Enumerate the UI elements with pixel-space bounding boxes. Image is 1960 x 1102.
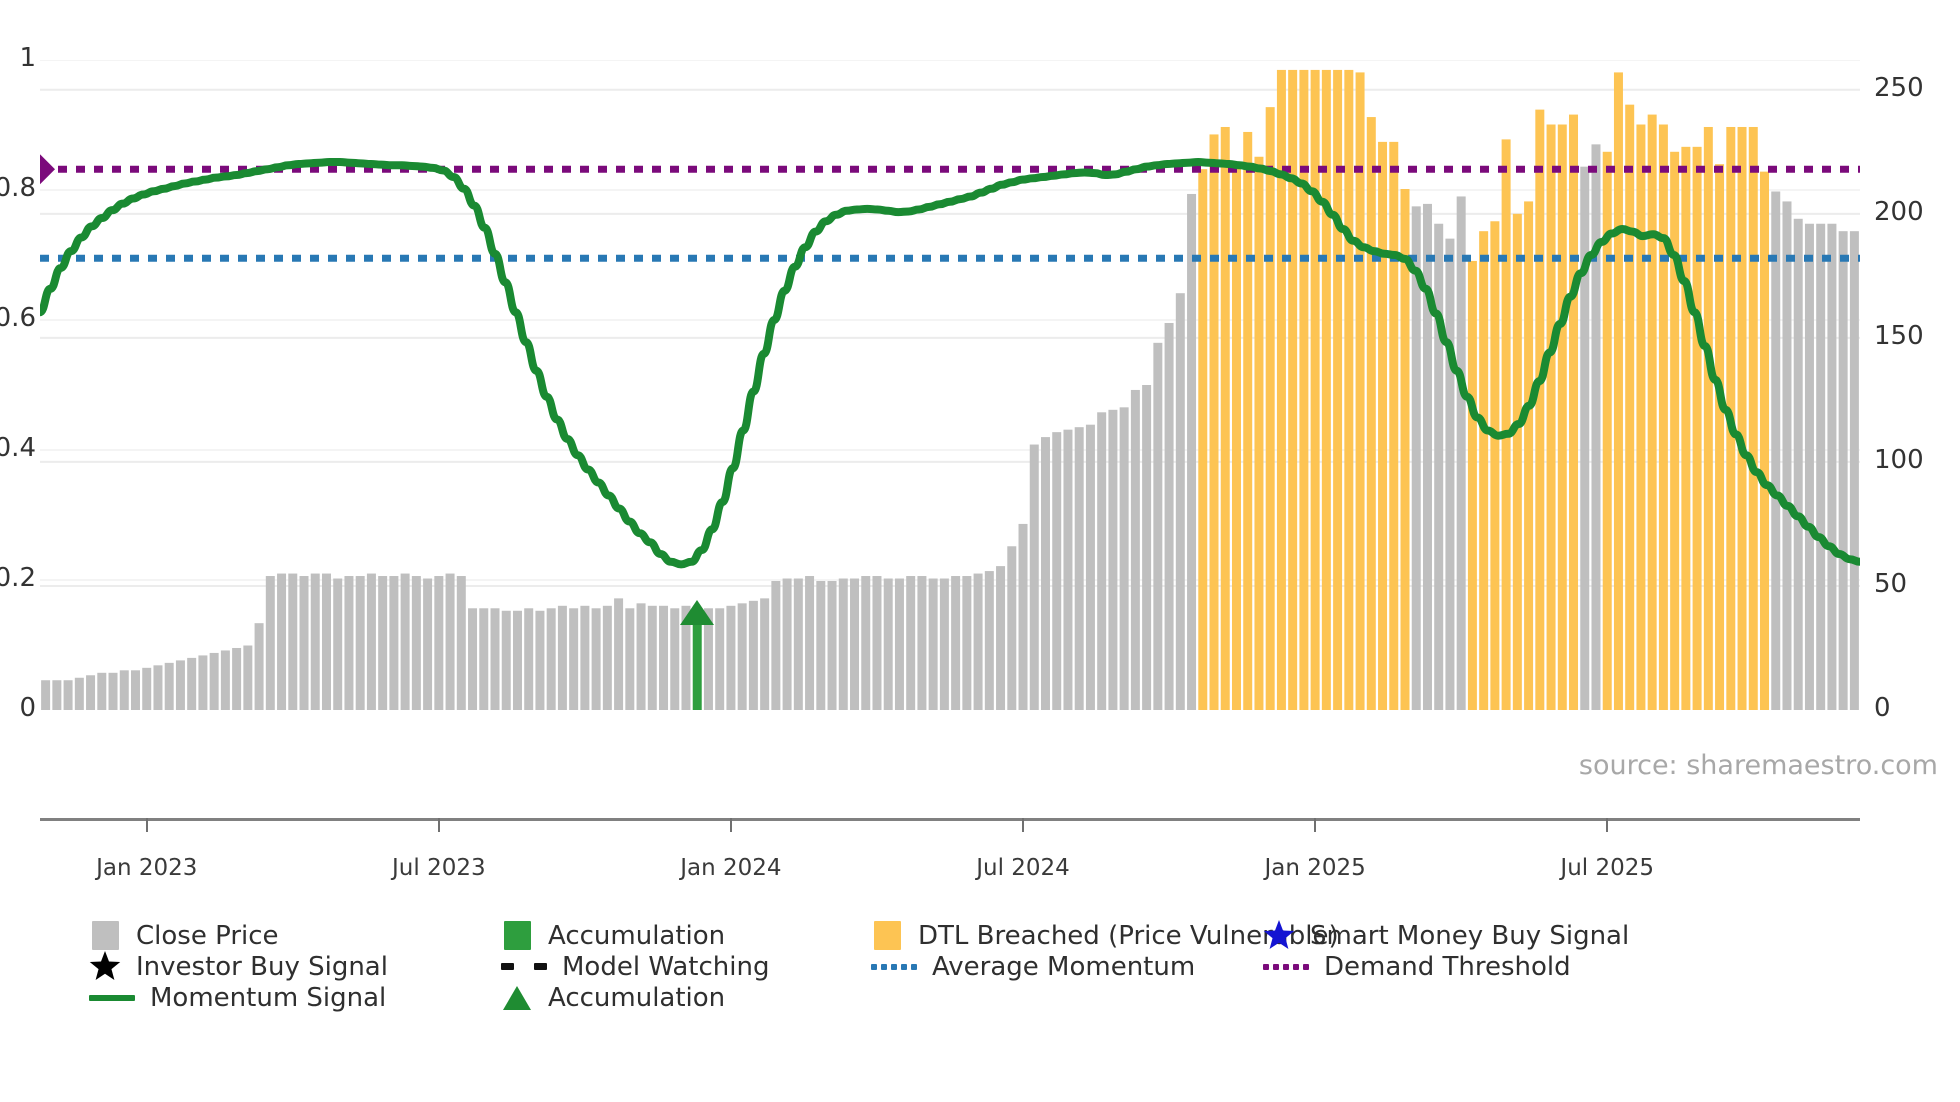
y-axis-left-tick-label: 0 [19, 695, 36, 721]
price-bar [861, 576, 870, 710]
legend-demand-threshold[interactable]: Demand Threshold [1262, 951, 1682, 982]
price-bar [1693, 147, 1702, 710]
dashed-line-swatch-icon [500, 951, 548, 982]
price-bar [1165, 323, 1174, 710]
price-bar [985, 571, 994, 710]
price-bar [884, 579, 893, 710]
price-bar [1378, 142, 1387, 710]
x-axis-tick-label: Jan 2023 [96, 855, 197, 881]
price-bar [86, 675, 95, 710]
price-bar [592, 608, 601, 710]
legend-investor-buy[interactable]: Investor Buy Signal [88, 951, 500, 982]
legend-label: Demand Threshold [1324, 954, 1571, 980]
price-bar [288, 574, 297, 710]
price-bar [524, 608, 533, 710]
dotted-line-icon [1263, 964, 1309, 970]
price-bar [1704, 127, 1713, 710]
price-bar [1176, 293, 1185, 710]
price-bar [1760, 172, 1769, 710]
price-bar [1591, 144, 1600, 710]
price-bar [1007, 546, 1016, 710]
x-axis-tick-mark [1606, 818, 1608, 832]
price-bar [221, 650, 230, 710]
price-bar [1805, 224, 1814, 710]
price-bar [771, 581, 780, 710]
price-bar [187, 658, 196, 710]
price-bar [872, 576, 881, 710]
price-bar [468, 608, 477, 710]
square-swatch-icon [88, 920, 122, 951]
price-bar [760, 598, 769, 710]
price-bar [243, 646, 252, 711]
price-bar [1513, 214, 1522, 710]
line-icon [89, 995, 135, 1001]
legend-label: Accumulation [548, 923, 725, 949]
price-bar [356, 576, 365, 710]
y-axis-right-tick-label: 0 [1874, 695, 1891, 721]
price-bar [300, 576, 309, 710]
price-bar [1210, 134, 1219, 710]
price-bar [434, 576, 443, 710]
y-axis-right-tick-label: 250 [1874, 75, 1924, 101]
price-bar [850, 579, 859, 710]
star-icon [88, 951, 122, 983]
price-bar [996, 566, 1005, 710]
price-bar [1063, 430, 1072, 710]
x-axis-tick-label: Jul 2023 [392, 855, 486, 881]
price-bar [1614, 72, 1623, 710]
price-bar [513, 611, 522, 710]
price-bar [625, 608, 634, 710]
price-bar [1547, 125, 1556, 711]
price-bar [569, 608, 578, 710]
legend-close-price[interactable]: Close Price [88, 920, 500, 951]
price-bar [1041, 437, 1050, 710]
square-icon [92, 921, 119, 950]
dashed-line-icon [501, 963, 547, 970]
price-bar [1120, 407, 1129, 710]
legend-label: Investor Buy Signal [136, 954, 388, 980]
price-bar [97, 673, 106, 710]
price-bar [491, 608, 500, 710]
price-bar [1108, 410, 1117, 710]
price-bar [1839, 231, 1848, 710]
price-bar [255, 623, 264, 710]
square-swatch-icon [500, 920, 534, 951]
price-bar [1131, 390, 1140, 710]
square-icon [874, 921, 901, 950]
price-bar [1479, 231, 1488, 710]
y-axis-right-tick-label: 50 [1874, 571, 1907, 597]
price-bar [1715, 164, 1724, 710]
price-bar [1344, 70, 1353, 710]
price-bar [52, 680, 61, 710]
y-axis-left-tick-label: 0.8 [0, 175, 36, 201]
price-bar [1535, 110, 1544, 710]
square-icon [504, 921, 531, 950]
price-bar [389, 576, 398, 710]
chart-root: 00.20.40.60.81 050100150200250 Jan 2023J… [0, 0, 1960, 1102]
x-axis-tick-mark [730, 818, 732, 832]
legend-accumulation-bar[interactable]: Accumulation [500, 920, 870, 951]
price-bar [962, 576, 971, 710]
price-bar [1738, 127, 1747, 710]
plot-area [40, 60, 1860, 710]
demand-threshold-diamond [40, 152, 55, 186]
price-bar [457, 576, 466, 710]
price-bar [41, 680, 50, 710]
price-bar [659, 606, 668, 710]
price-bar [648, 606, 657, 710]
price-bar [322, 574, 331, 710]
price-bar [109, 673, 118, 710]
price-bar [1625, 105, 1634, 710]
price-bar [210, 653, 219, 710]
price-bar [1266, 107, 1275, 710]
price-bar [446, 574, 455, 710]
x-axis-tick-label: Jan 2025 [1264, 855, 1365, 881]
price-bar [547, 608, 556, 710]
legend-label: Momentum Signal [150, 985, 386, 1011]
price-bar [670, 608, 679, 710]
price-bar [1827, 224, 1836, 710]
price-bar [378, 576, 387, 710]
price-bar [1187, 194, 1196, 710]
price-bar [311, 574, 320, 710]
square-swatch-icon [870, 920, 904, 951]
price-bar [1771, 191, 1780, 710]
price-bar [1580, 167, 1589, 710]
x-axis-tick-label: Jul 2024 [976, 855, 1070, 881]
y-axis-left-tick-label: 0.2 [0, 565, 36, 591]
price-bar [1221, 127, 1230, 710]
price-bar [1816, 224, 1825, 710]
legend-model-watching[interactable]: Model Watching [500, 951, 870, 982]
price-bar [423, 579, 432, 710]
plot-canvas [40, 60, 1860, 710]
x-axis-tick-mark [1022, 818, 1024, 832]
price-bar [1569, 115, 1578, 710]
price-bar [165, 663, 174, 710]
x-axis-tick-mark [146, 818, 148, 832]
price-bar [232, 648, 241, 710]
price-bar [1075, 427, 1084, 710]
price-bar [176, 660, 185, 710]
price-bar [794, 579, 803, 710]
source-attribution: source: sharemaestro.com [1579, 750, 1938, 781]
price-bar [1850, 231, 1859, 710]
legend-label: Accumulation [548, 985, 725, 1011]
price-bar [479, 608, 488, 710]
price-bar [1086, 425, 1095, 710]
price-bar [333, 579, 342, 710]
star-icon [1262, 920, 1296, 952]
x-axis-tick-label: Jan 2024 [680, 855, 781, 881]
price-bar [951, 576, 960, 710]
price-bar [749, 601, 758, 710]
price-bar [1030, 445, 1039, 710]
price-bar [1052, 432, 1061, 710]
price-bar [726, 606, 735, 710]
price-bar [839, 579, 848, 710]
legend-label: Close Price [136, 923, 279, 949]
price-bar [974, 574, 983, 710]
price-bar [1749, 127, 1758, 710]
price-bar [75, 678, 84, 710]
price-bar [1389, 142, 1398, 710]
chart-legend: Close PriceAccumulationDTL Breached (Pri… [88, 920, 1928, 1013]
price-bar [1243, 132, 1252, 710]
price-bar [1670, 152, 1679, 710]
price-bar [1434, 224, 1443, 710]
y-axis-right-tick-label: 150 [1874, 323, 1924, 349]
price-bar [153, 665, 162, 710]
price-bar [277, 574, 286, 710]
legend-label: Smart Money Buy Signal [1310, 923, 1629, 949]
y-axis-right-tick-label: 100 [1874, 447, 1924, 473]
price-bar [120, 670, 129, 710]
price-bar [637, 603, 646, 710]
legend-accumulation-marker[interactable]: Accumulation [500, 982, 870, 1013]
legend-average-momentum[interactable]: Average Momentum [870, 951, 1262, 982]
y-axis-right-tick-label: 200 [1874, 199, 1924, 225]
x-axis-line [40, 818, 1860, 821]
line-swatch-icon [88, 982, 136, 1013]
price-bar [738, 603, 747, 710]
price-bar [266, 576, 275, 710]
legend-dtl-breached[interactable]: DTL Breached (Price Vulnerable) [870, 920, 1262, 951]
price-bar [344, 576, 353, 710]
price-bar [917, 576, 926, 710]
price-bar [1794, 219, 1803, 710]
x-axis-tick-mark [438, 818, 440, 832]
price-bar [614, 598, 623, 710]
price-bar [1142, 385, 1151, 710]
triangle-icon [500, 983, 534, 1013]
price-bar [603, 606, 612, 710]
price-bar [783, 579, 792, 710]
price-bar [1648, 115, 1657, 710]
dotted-line-swatch-icon [1262, 951, 1310, 982]
price-bar [1782, 201, 1791, 710]
triangle-swatch-icon [500, 982, 534, 1013]
price-bar [715, 608, 724, 710]
price-bar [412, 576, 421, 710]
price-bar [1490, 221, 1499, 710]
x-axis-tick-mark [1314, 818, 1316, 832]
star-swatch-icon [1262, 920, 1296, 951]
price-bar [1659, 125, 1668, 711]
price-bar [142, 668, 151, 710]
x-axis-tick-label: Jul 2025 [1560, 855, 1654, 881]
y-axis-left-tick-label: 0.6 [0, 305, 36, 331]
y-axis-left-tick-label: 0.4 [0, 435, 36, 461]
price-bar [580, 606, 589, 710]
price-bar [1445, 239, 1454, 710]
legend-label: Average Momentum [932, 954, 1195, 980]
price-bar [1153, 343, 1162, 710]
price-bar [1254, 157, 1263, 710]
dotted-line-icon [871, 964, 917, 970]
price-bar [1636, 125, 1645, 711]
price-bar [1502, 139, 1511, 710]
chart-svg [40, 60, 1860, 710]
price-bar [895, 579, 904, 710]
price-bar [1681, 147, 1690, 710]
price-bar [401, 574, 410, 710]
legend-label: Model Watching [562, 954, 769, 980]
y-axis-left-tick-label: 1 [19, 45, 36, 71]
price-bar [131, 670, 140, 710]
price-bar [1198, 169, 1207, 710]
price-bar [906, 576, 915, 710]
price-bar [535, 611, 544, 710]
price-bar [1367, 117, 1376, 710]
price-bar [1232, 164, 1241, 710]
price-bar [1468, 261, 1477, 710]
price-bar [1524, 201, 1533, 710]
price-bar [940, 579, 949, 710]
star-swatch-icon [88, 951, 122, 982]
price-bar [198, 655, 207, 710]
price-bar [558, 606, 567, 710]
price-bar [1097, 412, 1106, 710]
price-bar [805, 576, 814, 710]
price-bar [1457, 196, 1466, 710]
price-bar [367, 574, 376, 710]
accumulation-triangle-marker [680, 600, 714, 625]
dotted-line-swatch-icon [870, 951, 918, 982]
price-bar [929, 579, 938, 710]
price-bar [1558, 125, 1567, 711]
price-bar [828, 581, 837, 710]
legend-momentum-signal[interactable]: Momentum Signal [88, 982, 500, 1013]
price-bar [816, 581, 825, 710]
price-bar [502, 611, 511, 710]
price-bar [64, 680, 73, 710]
price-bar [1019, 524, 1028, 710]
legend-smart-money-buy[interactable]: Smart Money Buy Signal [1262, 920, 1682, 951]
